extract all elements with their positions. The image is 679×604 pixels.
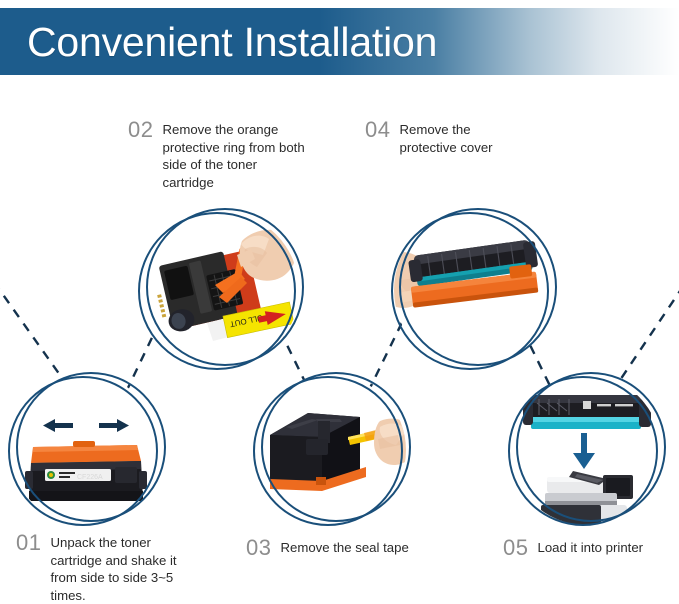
step-04: 04 Remove the protective cover xyxy=(365,118,530,156)
step-05-number: 05 xyxy=(503,536,528,559)
step-04-illustration xyxy=(391,208,557,374)
step-05-text: Load it into printer xyxy=(537,536,643,557)
printer xyxy=(541,471,633,525)
step-01-number: 01 xyxy=(16,531,41,554)
step-02: 02 Remove the orange protective ring fro… xyxy=(128,118,308,191)
scene-pull-orange-ring: PULL OUT xyxy=(141,211,299,369)
step-03: 03 Remove the seal tape xyxy=(246,536,446,559)
step-02-text: Remove the orange protective ring from b… xyxy=(162,118,308,191)
step-05: 05 Load it into printer xyxy=(503,536,679,559)
scene-remove-cover xyxy=(394,211,552,369)
cartridge xyxy=(523,395,651,429)
scene-toner-shake: CF226A xyxy=(11,375,161,525)
step-04-number: 04 xyxy=(365,118,390,141)
step-03-illustration xyxy=(253,372,411,530)
step-02-number: 02 xyxy=(128,118,153,141)
step-03-text: Remove the seal tape xyxy=(280,536,408,557)
infographic-root: Convenient Installation xyxy=(0,0,679,602)
svg-text:CF226A: CF226A xyxy=(77,474,103,481)
step-05-illustration xyxy=(508,372,666,530)
step-01-illustration: CF226A xyxy=(8,372,166,530)
step-01-text: Unpack the toner cartridge and shake it … xyxy=(50,531,201,604)
step-02-illustration: PULL OUT xyxy=(138,208,304,374)
step-01: 01 Unpack the toner cartridge and shake … xyxy=(16,531,201,604)
step-03-number: 03 xyxy=(246,536,271,559)
scene-pull-seal-tape xyxy=(256,375,406,525)
step-04-text: Remove the protective cover xyxy=(399,118,530,156)
scene-load-printer xyxy=(511,375,661,525)
